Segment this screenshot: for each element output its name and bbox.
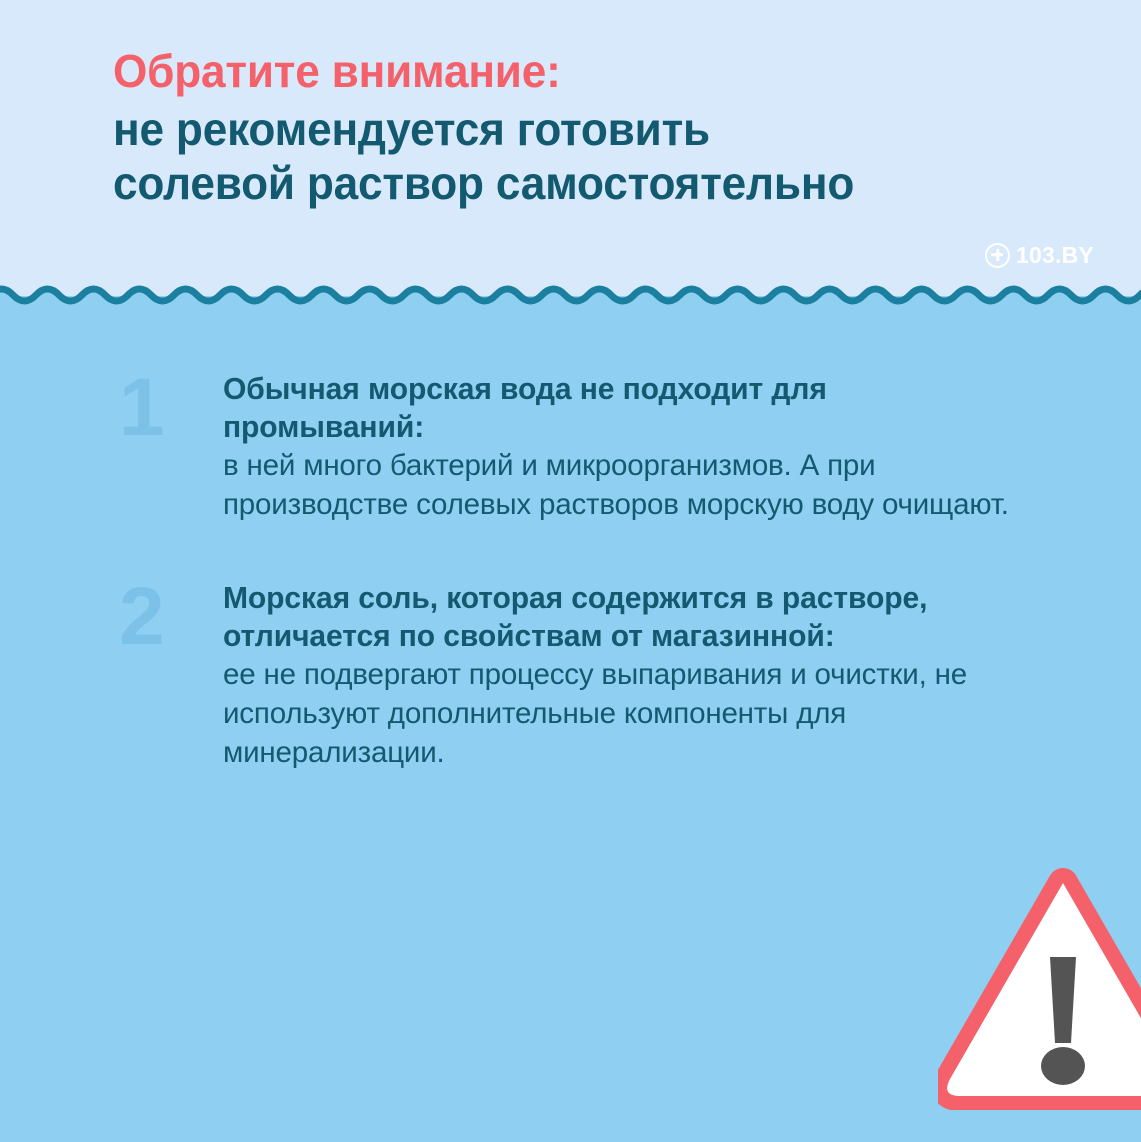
wave-divider	[0, 283, 1141, 317]
infographic-poster: Обратите внимание: не рекомендуется гото…	[0, 0, 1141, 1142]
brand-logo-label: 103.BY	[1016, 244, 1094, 267]
warning-triangle-icon	[938, 865, 1141, 1110]
list-item: 2 Морская соль, которая содержится в рас…	[0, 579, 1141, 772]
list-item: 1 Обычная морская вода не подходит для п…	[0, 370, 1141, 524]
title-line-third: солевой раствор самостоятельно	[113, 156, 1063, 210]
list-item-number: 2	[0, 579, 223, 655]
brand-logo[interactable]: 103.BY	[985, 240, 1094, 270]
page-title: Обратите внимание: не рекомендуется гото…	[113, 44, 1103, 210]
list-item-number: 1	[0, 370, 223, 446]
title-line-accent: Обратите внимание:	[113, 44, 1063, 98]
header-band: Обратите внимание: не рекомендуется гото…	[0, 0, 1141, 296]
list-item-text: в ней много бактерий и микроорганизмов. …	[223, 446, 1031, 524]
list-item-body: Обычная морская вода не подходит для про…	[223, 370, 1141, 524]
list-item-body: Морская соль, которая содержится в раств…	[223, 579, 1141, 772]
list-item-text: ее не подвергают процессу выпаривания и …	[223, 655, 1031, 772]
list-item-heading: Обычная морская вода не подходит для про…	[223, 370, 1011, 446]
list-item-heading: Морская соль, которая содержится в раств…	[223, 579, 1011, 655]
notes-list: 1 Обычная морская вода не подходит для п…	[0, 317, 1141, 772]
title-line-second: не рекомендуется готовить	[113, 102, 1063, 156]
plus-circle-icon	[985, 243, 1010, 268]
